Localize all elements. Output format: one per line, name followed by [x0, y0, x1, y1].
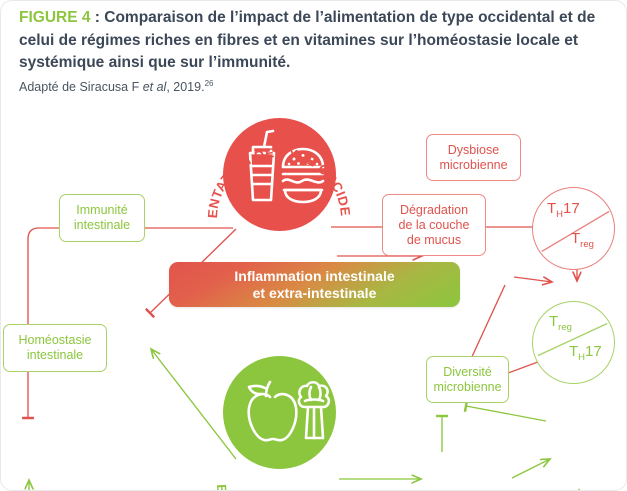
page-title: FIGURE 4 : Comparaison de l’impact de l’… — [19, 7, 619, 75]
tcell-balance-green[interactable]: Treg TH17 — [532, 301, 615, 384]
tcell-balance-red[interactable]: TH17 Treg — [532, 187, 615, 270]
node-immunite-intestinale[interactable]: Immunité intestinale — [59, 194, 145, 242]
figure-panel: FIGURE 4 : Comparaison de l’impact de l’… — [0, 0, 627, 491]
figure-credit: Adapté de Siracusa F et al, 2019.26 — [19, 76, 619, 95]
node-label: Inflammation intestinale et extra-intest… — [234, 268, 394, 302]
western-diet-circle — [223, 118, 336, 231]
node-inflammation[interactable]: Inflammation intestinale et extra-intest… — [169, 262, 460, 307]
node-dysbiose-microbienne[interactable]: Dysbiose microbienne — [426, 134, 521, 181]
edge-diversite-to-tcell-green — [512, 459, 550, 478]
tcell-th17-label-green: TH17 — [569, 343, 602, 363]
apple-icon — [249, 382, 297, 440]
edge-dysbiose-to-tcell-red — [514, 277, 552, 282]
node-degradation-mucus[interactable]: Dégradation de la couche de mucus — [382, 194, 486, 256]
figure-number: FIGURE 4 — [19, 9, 90, 26]
title-colon: : — [90, 9, 104, 26]
western-diet-icons — [223, 118, 336, 231]
node-label: Diversité microbienne — [433, 365, 501, 395]
tcell-treg-label-green: Treg — [549, 313, 572, 333]
edge-diet-to-homeostasie — [28, 228, 233, 418]
broccoli-icon — [299, 382, 329, 438]
tcell-th17-label-red: TH17 — [547, 200, 580, 220]
tcell-treg-label-red: Treg — [571, 230, 594, 250]
figure-header: FIGURE 4 : Comparaison de l’impact de l’… — [19, 7, 619, 95]
credit-italic: et al — [143, 80, 167, 94]
fiber-diet-icons — [223, 356, 336, 469]
title-text: Comparaison de l’impact de l’alimentatio… — [19, 9, 595, 71]
soda-cup-icon — [250, 131, 274, 200]
edge-tcell-green-to-inflammation — [466, 406, 546, 421]
node-label: Dégradation de la couche de mucus — [399, 203, 470, 248]
credit-prefix: Adapté de Siracusa F — [19, 80, 143, 94]
node-homeostasie-intestinale[interactable]: Homéostasie intestinale — [3, 324, 107, 372]
credit-reference: 26 — [205, 79, 214, 88]
edge-fiber-to-homeostasie — [29, 480, 227, 491]
credit-suffix: , 2019. — [166, 80, 204, 94]
node-label: Immunité intestinale — [74, 203, 130, 233]
node-diversite-microbienne[interactable]: Diversité microbienne — [426, 356, 509, 403]
node-label: Homéostasie intestinale — [19, 333, 92, 363]
node-label: Dysbiose microbienne — [439, 143, 507, 173]
fiber-diet-circle — [223, 356, 336, 469]
